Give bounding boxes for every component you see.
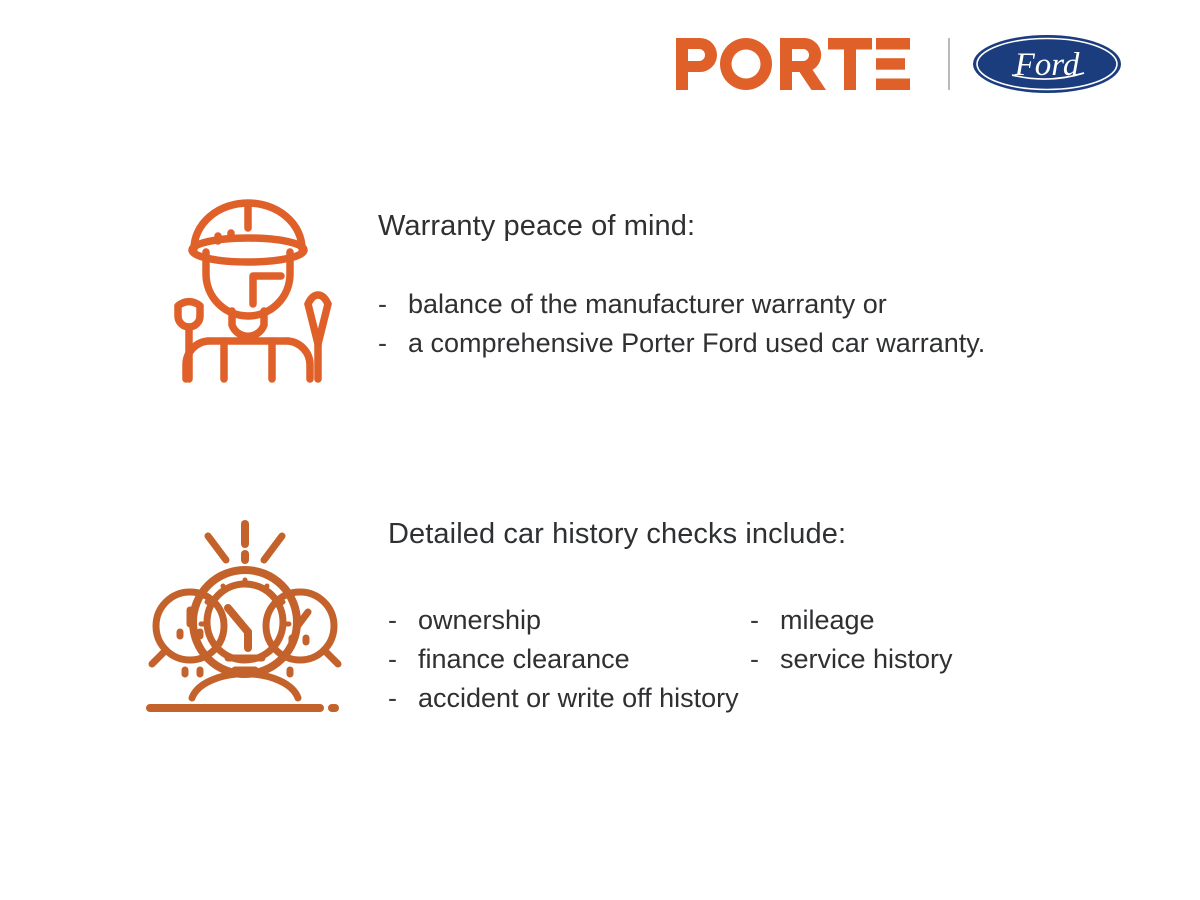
- brand-header: Ford: [0, 26, 1200, 102]
- bullet-item: - service history: [750, 640, 953, 679]
- bullet-marker: -: [750, 640, 780, 679]
- bullet-marker: -: [378, 324, 408, 363]
- bullet-item: - a comprehensive Porter Ford used car w…: [378, 324, 985, 363]
- bullet-marker: -: [388, 679, 418, 718]
- ford-logo[interactable]: Ford: [972, 34, 1122, 94]
- bullet-text: balance of the manufacturer warranty or: [408, 285, 887, 324]
- warranty-heading: Warranty peace of mind:: [378, 212, 985, 241]
- bullet-marker: -: [378, 285, 408, 324]
- bullet-text: finance clearance: [418, 640, 630, 679]
- history-heading: Detailed car history checks include:: [388, 520, 953, 549]
- bullet-item: - accident or write off history: [388, 679, 953, 718]
- warranty-bullet-list: - balance of the manufacturer warranty o…: [378, 285, 985, 363]
- section-warranty: Warranty peace of mind: - balance of the…: [148, 186, 985, 386]
- bullet-marker: -: [388, 640, 418, 679]
- bullet-marker: -: [388, 601, 418, 640]
- dashboard-gauges-icon: [140, 512, 350, 712]
- bullet-marker: -: [750, 601, 780, 640]
- bullet-item: - ownership: [388, 601, 750, 640]
- section-history: Detailed car history checks include: - o…: [140, 512, 953, 718]
- bullet-item: - balance of the manufacturer warranty o…: [378, 285, 985, 324]
- bullet-text: ownership: [418, 601, 541, 640]
- bullet-text: a comprehensive Porter Ford used car war…: [408, 324, 985, 363]
- bullet-item: - mileage: [750, 601, 953, 640]
- bullet-text: service history: [780, 640, 953, 679]
- bullet-text: mileage: [780, 601, 875, 640]
- history-text-block: Detailed car history checks include: - o…: [388, 512, 953, 718]
- mechanic-icon: [148, 186, 348, 386]
- porter-logo[interactable]: [676, 38, 928, 90]
- bullet-item: - finance clearance: [388, 640, 750, 679]
- warranty-text-block: Warranty peace of mind: - balance of the…: [378, 186, 985, 363]
- history-bullet-list: - ownership - mileage - finance clearanc…: [388, 601, 953, 718]
- bullet-text: accident or write off history: [418, 679, 739, 718]
- brand-divider: [948, 38, 950, 90]
